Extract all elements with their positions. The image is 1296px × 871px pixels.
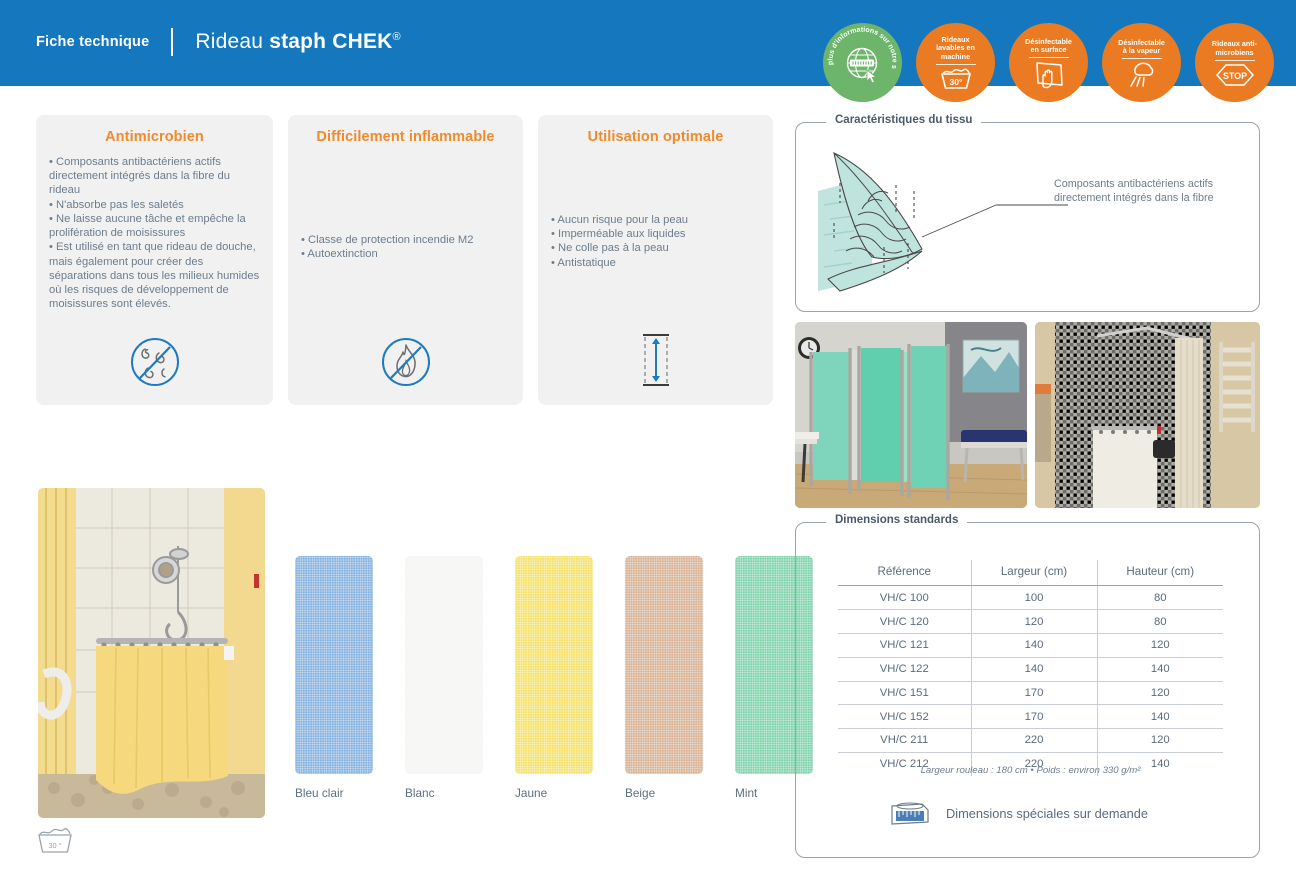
card-utilisation-optimale: Utilisation optimale • Aucun risque pour…	[538, 115, 773, 405]
cell-reference: VH/C 120	[838, 610, 971, 634]
swatch-chip	[515, 556, 593, 774]
cell-hauteur: 80	[1097, 610, 1223, 634]
bullet: • Antistatique	[551, 256, 760, 270]
card-difficilement-inflammable-title: Difficilement inflammable	[288, 129, 523, 145]
cell-reference: VH/C 100	[838, 586, 971, 610]
hand-wipe-icon	[1032, 59, 1066, 89]
badge-divider	[1122, 58, 1162, 59]
svg-text:30 °: 30 °	[48, 841, 61, 850]
cell-reference: VH/C 121	[838, 633, 971, 657]
badge-group: plus d'informations sur notre site	[823, 23, 1274, 102]
photo-yellow-curtain	[38, 488, 265, 818]
title-registered-mark: ®	[393, 31, 401, 43]
dimensions-note: Largeur rouleau : 180 cm • Poids : envir…	[838, 765, 1223, 776]
bullet: • Autoextinction	[301, 247, 510, 261]
table-row: VH/C 152 170 140	[838, 705, 1223, 729]
fabric-panel-legend: Caractéristiques du tissu	[826, 114, 981, 126]
badge-surface-disinfectable[interactable]: Désinfectable en surface	[1009, 23, 1088, 102]
badge-machine-washable-label: Rideaux lavables en machine	[936, 36, 975, 61]
cell-hauteur: 140	[1097, 657, 1223, 681]
card-antimicrobien: Antimicrobien • Composants antibactérien…	[36, 115, 273, 405]
bullet: • Aucun risque pour la peau	[551, 213, 760, 227]
table-row: VH/C 100 100 80	[838, 586, 1223, 610]
card-utilisation-optimale-title: Utilisation optimale	[538, 129, 773, 145]
photo-privacy-screen	[795, 322, 1027, 508]
table-row: VH/C 211 220 120	[838, 729, 1223, 753]
wash-30-icon: 30 °	[33, 826, 77, 856]
bullet: • Composants antibactériens actifs direc…	[49, 155, 260, 198]
cell-largeur: 170	[971, 681, 1097, 705]
wash-tub-icon: 30°	[938, 66, 974, 91]
column-header-hauteur: Hauteur (cm)	[1097, 560, 1223, 586]
badge-divider	[936, 64, 976, 65]
swatch-chip	[625, 556, 703, 774]
badge-steam-disinfectable[interactable]: Désinfectable à la vapeur	[1102, 23, 1181, 102]
svg-text:STOP: STOP	[1222, 71, 1246, 81]
table-row: VH/C 151 170 120	[838, 681, 1223, 705]
cell-largeur: 140	[971, 657, 1097, 681]
page-header: Fiche technique Rideau staph CHEK® plus …	[0, 0, 1296, 86]
table-row: VH/C 122 140 140	[838, 657, 1223, 681]
cell-hauteur: 140	[1097, 705, 1223, 729]
fabric-characteristics-panel: Caractéristiques du tissu	[795, 122, 1260, 312]
swatch-label: Beige	[625, 786, 703, 800]
badge-antimicrobial[interactable]: Rideaux anti- microbiens STOP	[1195, 23, 1274, 102]
swatch-blanc[interactable]: Blanc	[405, 556, 483, 800]
title-brand: staph CHEK	[269, 30, 392, 53]
svg-text:plus d'informations sur notre: plus d'informations sur notre site	[823, 24, 899, 70]
title-prefix: Rideau	[195, 30, 269, 53]
cell-reference: VH/C 151	[838, 681, 971, 705]
bullet: • Imperméable aux liquides	[551, 227, 760, 241]
cell-hauteur: 120	[1097, 681, 1223, 705]
card-difficilement-inflammable: Difficilement inflammable • Classe de pr…	[288, 115, 523, 405]
card-utilisation-optimale-body: • Aucun risque pour la peau • Imperméabl…	[538, 213, 773, 270]
cell-reference: VH/C 152	[838, 705, 971, 729]
table-header-row: Référence Largeur (cm) Hauteur (cm)	[838, 560, 1223, 586]
bullet: • Est utilisé en tant que rideau de douc…	[49, 240, 260, 311]
cell-hauteur: 80	[1097, 586, 1223, 610]
page-title: Rideau staph CHEK®	[195, 30, 400, 54]
tape-measure-icon	[888, 800, 932, 826]
header-kicker: Fiche technique	[36, 34, 149, 50]
header-title-group: Fiche technique Rideau staph CHEK®	[36, 28, 401, 56]
cell-reference: VH/C 211	[838, 729, 971, 753]
color-swatch-group: Bleu clair Blanc Jaune Beige Mint	[295, 556, 813, 800]
cell-hauteur: 120	[1097, 633, 1223, 657]
swatch-beige[interactable]: Beige	[625, 556, 703, 800]
badge-surface-disinfectable-label: Désinfectable en surface	[1025, 38, 1072, 55]
card-antimicrobien-title: Antimicrobien	[36, 129, 273, 145]
swatch-label: Jaune	[515, 786, 593, 800]
badge-antimicrobial-label: Rideaux anti- microbiens	[1212, 40, 1257, 57]
no-flame-icon	[288, 333, 523, 391]
bullet: • Ne laisse aucune tâche et empêche la p…	[49, 212, 260, 240]
special-dimensions-row: Dimensions spéciales sur demande	[888, 800, 1148, 826]
swatch-chip	[295, 556, 373, 774]
cell-largeur: 100	[971, 586, 1097, 610]
steam-icon	[1125, 60, 1159, 88]
badge-more-info-website[interactable]: plus d'informations sur notre site	[823, 23, 902, 102]
swatch-jaune[interactable]: Jaune	[515, 556, 593, 800]
column-header-largeur: Largeur (cm)	[971, 560, 1097, 586]
svg-text:30°: 30°	[949, 77, 963, 87]
bullet: • Classe de protection incendie M2	[301, 233, 510, 247]
cell-reference: VH/C 122	[838, 657, 971, 681]
header-divider	[171, 28, 173, 56]
badge-machine-washable[interactable]: Rideaux lavables en machine 30°	[916, 23, 995, 102]
fabric-callout-text: Composants antibactériens actifs directe…	[1054, 177, 1244, 206]
stop-hexagon-icon: STOP	[1214, 63, 1256, 87]
swatch-chip	[405, 556, 483, 774]
cell-largeur: 120	[971, 610, 1097, 634]
bullet: • Ne colle pas à la peau	[551, 241, 760, 255]
swatch-label: Bleu clair	[295, 786, 373, 800]
card-difficilement-inflammable-body: • Classe de protection incendie M2 • Aut…	[288, 233, 523, 261]
dimensions-panel-legend: Dimensions standards	[826, 514, 967, 526]
dimensions-table: Référence Largeur (cm) Hauteur (cm) VH/C…	[838, 560, 1223, 776]
fabric-weave-diagram	[810, 139, 1070, 299]
badge-divider	[1029, 57, 1069, 58]
datasheet-page: Fiche technique Rideau staph CHEK® plus …	[0, 0, 1296, 871]
cell-largeur: 170	[971, 705, 1097, 729]
badge-divider	[1215, 60, 1255, 61]
table-row: VH/C 120 120 80	[838, 610, 1223, 634]
no-bacteria-icon	[36, 333, 273, 391]
cell-largeur: 140	[971, 633, 1097, 657]
column-header-reference: Référence	[838, 560, 971, 586]
cell-hauteur: 120	[1097, 729, 1223, 753]
cell-largeur: 220	[971, 729, 1097, 753]
special-dimensions-label: Dimensions spéciales sur demande	[946, 806, 1148, 821]
bullet: • N'absorbe pas les saletés	[49, 198, 260, 212]
vertical-arrow-icon	[538, 329, 773, 391]
swatch-label: Blanc	[405, 786, 483, 800]
swatch-bleu-clair[interactable]: Bleu clair	[295, 556, 373, 800]
badge-steam-disinfectable-label: Désinfectable à la vapeur	[1118, 39, 1165, 56]
photo-shower-curtain	[1035, 322, 1260, 508]
table-row: VH/C 121 140 120	[838, 633, 1223, 657]
card-antimicrobien-body: • Composants antibactériens actifs direc…	[36, 155, 273, 311]
badge-curved-text: plus d'informations sur notre site	[823, 24, 902, 103]
